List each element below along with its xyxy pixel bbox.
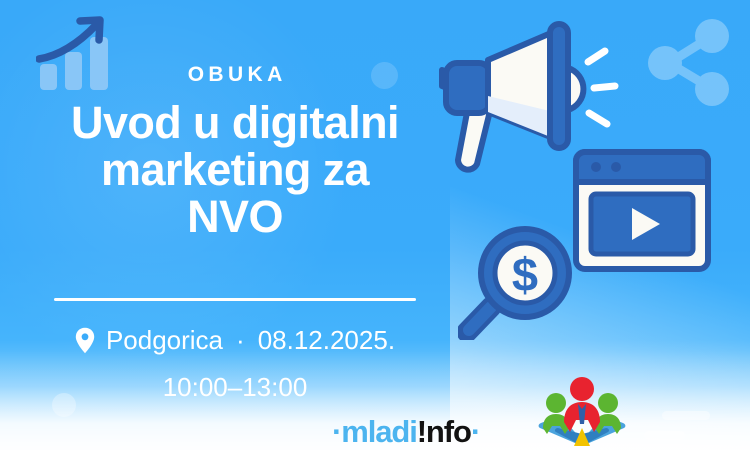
partner-organization-logo [534, 372, 630, 450]
logo-text-mladi: mladi [341, 416, 416, 447]
decorative-bar [662, 411, 710, 420]
svg-text:$: $ [512, 248, 538, 301]
divider [54, 298, 416, 301]
venue-label: Podgorica [106, 326, 223, 355]
promo-poster: $ OBUKA Uvod u digitalni marketing za NV… [0, 0, 750, 450]
logo-text-info: !nfo [417, 416, 471, 447]
location-pin-icon [75, 327, 95, 354]
event-details: Podgorica · 08.12.2025. 10:00–13:00 [20, 326, 450, 401]
logo-dot-left: · [332, 416, 341, 447]
decorative-bar [644, 431, 685, 440]
time-label: 10:00–13:00 [20, 373, 450, 402]
poster-text-block: OBUKA Uvod u digitalni marketing za NVO [20, 64, 450, 240]
page-title: Uvod u digitalni marketing za NVO [20, 99, 450, 240]
separator-dot: · [236, 326, 245, 355]
video-player-window-icon [572, 148, 712, 273]
share-icon [645, 16, 735, 108]
kicker-label: OBUKA [20, 64, 450, 85]
venue-date-line: Podgorica · 08.12.2025. [20, 326, 450, 355]
date-label: 08.12.2025. [258, 326, 395, 355]
magnifier-dollar-icon: $ [458, 218, 580, 340]
mladiinfo-logo[interactable]: · mladi !nfo · [332, 416, 480, 447]
logo-dot-right: · [471, 416, 480, 447]
